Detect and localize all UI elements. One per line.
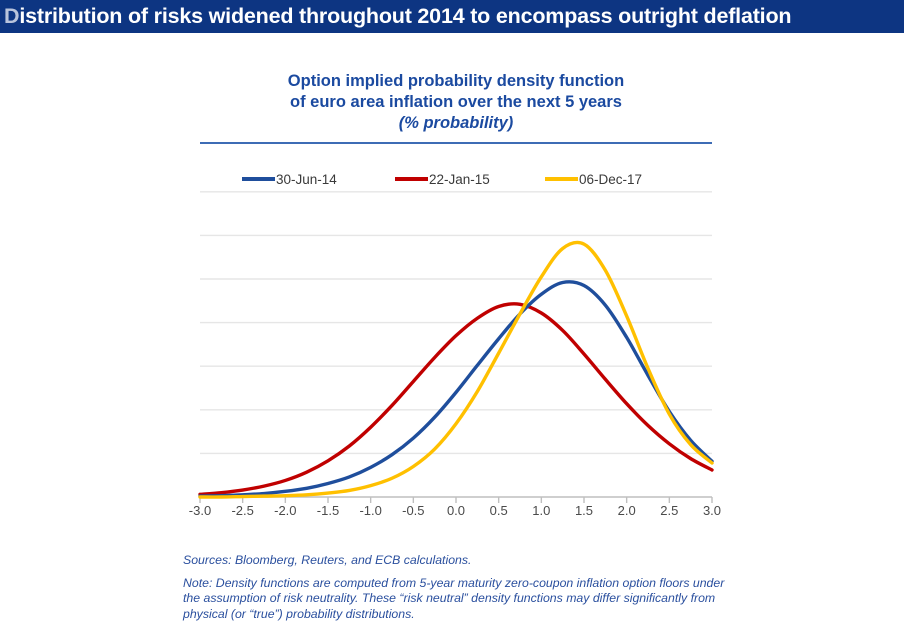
density-curve-30-jun-14	[200, 282, 712, 496]
footnotes: Sources: Bloomberg, Reuters, and ECB cal…	[183, 553, 783, 622]
x-tick-label: -2.5	[220, 503, 266, 518]
x-tick-label: 3.0	[689, 503, 735, 518]
x-tick-label: 1.5	[561, 503, 607, 518]
density-curves	[200, 242, 712, 497]
x-tick-label: 0.5	[476, 503, 522, 518]
note-text: Note: Density functions are computed fro…	[183, 576, 743, 623]
x-tick-label: -3.0	[177, 503, 223, 518]
density-curve-06-dec-17	[200, 242, 712, 497]
page-title: Distribution of risks widened throughout…	[4, 4, 791, 29]
plot-svg	[0, 33, 904, 626]
x-tick-label: -2.0	[262, 503, 308, 518]
plot-area: -3.0-2.5-2.0-1.5-1.0-0.50.00.51.01.52.02…	[0, 33, 904, 626]
x-tick-label: 2.0	[604, 503, 650, 518]
x-tick-label: -1.5	[305, 503, 351, 518]
x-tick-label: 0.0	[433, 503, 479, 518]
header-banner: Distribution of risks widened throughout…	[0, 0, 904, 33]
x-tick-label: -1.0	[348, 503, 394, 518]
page-title-text: istribution of risks widened throughout …	[19, 4, 791, 28]
chart-container: Option implied probability density funct…	[0, 33, 904, 626]
sources-text: Sources: Bloomberg, Reuters, and ECB cal…	[183, 553, 783, 569]
x-tick-label: 2.5	[646, 503, 692, 518]
page-title-dropcap: D	[4, 4, 19, 28]
x-tick-label: 1.0	[518, 503, 564, 518]
x-tick-label: -0.5	[390, 503, 436, 518]
